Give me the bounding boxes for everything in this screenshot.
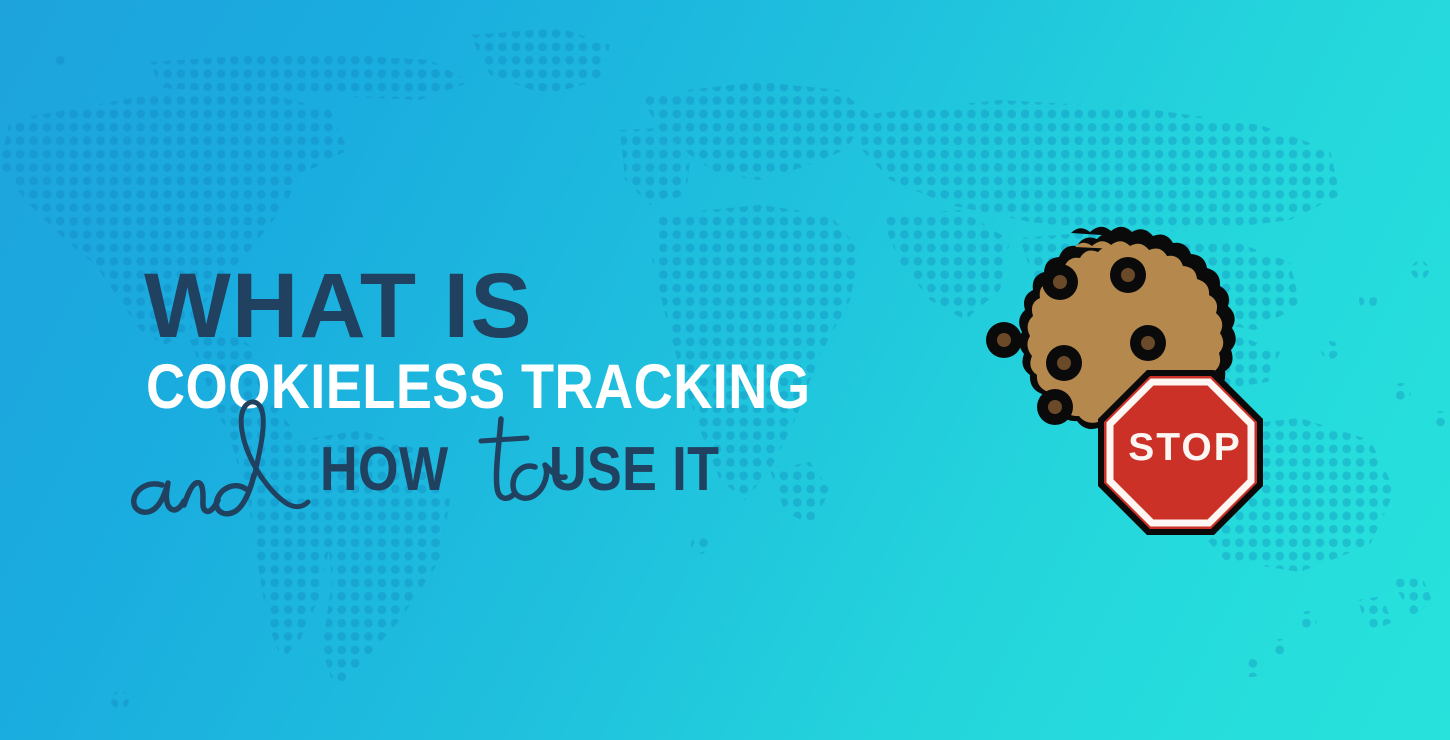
headline-line-what-is: WHAT IS bbox=[144, 262, 960, 350]
cookie-chip bbox=[1037, 389, 1073, 425]
cookie-chip bbox=[1046, 345, 1082, 381]
cookie-stop-sign-illustration bbox=[930, 215, 1300, 565]
cookie-chip bbox=[1110, 257, 1146, 293]
script-and-text bbox=[140, 421, 320, 517]
headline-block: WHAT IS COOKIELESS TRACKING HOW bbox=[140, 262, 960, 517]
cookie-chip bbox=[1130, 325, 1166, 361]
headline-word-how: HOW bbox=[320, 439, 449, 517]
script-to-text bbox=[473, 421, 549, 517]
headline-line-how-to-use-it: HOW USE IT bbox=[140, 421, 960, 517]
cookie-chip bbox=[1042, 264, 1078, 300]
stop-sign-icon bbox=[1098, 370, 1263, 535]
headline-word-use-it: USE IT bbox=[549, 439, 719, 517]
cookieless-tracking-banner: WHAT IS COOKIELESS TRACKING HOW bbox=[0, 0, 1450, 740]
cookie-chip bbox=[986, 322, 1022, 358]
